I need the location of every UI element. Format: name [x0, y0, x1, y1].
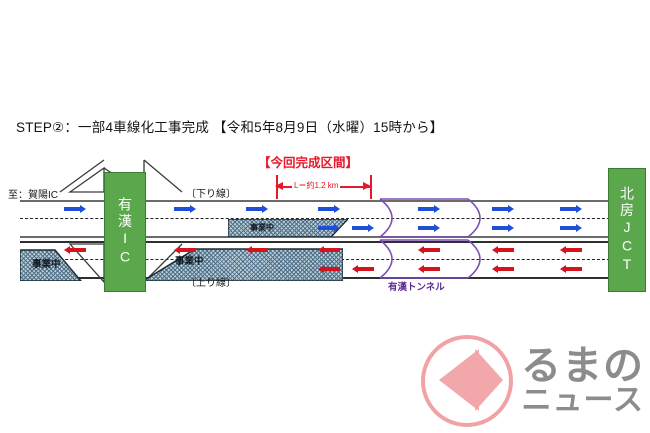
completed-section-label: 【今回完成区間】	[258, 152, 358, 171]
arrow-inbound-red-lane2	[352, 265, 374, 273]
diagram-canvas: STEP②：一部4車線化工事完成 【令和5年8月9日（水曜）15時から】 【今回…	[0, 0, 650, 433]
arrow-outbound-blue	[246, 205, 268, 213]
arrow-inbound-red-lane2	[418, 265, 440, 273]
arrow-inbound-red	[246, 246, 268, 254]
watermark-line2: ニュース	[521, 386, 644, 416]
arrow-inbound-red-lane2	[492, 265, 514, 273]
arrow-outbound-blue	[318, 205, 340, 213]
arrow-inbound-red	[174, 246, 196, 254]
dimension-length-text: L＝約1.2 km	[292, 180, 340, 191]
arrow-inbound-red	[492, 246, 514, 254]
arrow-outbound-blue-lane2	[560, 224, 582, 232]
arrow-outbound-blue-lane2	[418, 224, 440, 232]
dimension-arrow-right	[363, 182, 371, 190]
arrow-outbound-blue	[174, 205, 196, 213]
facility-ukan-ic[interactable]: 有漢IC	[104, 172, 146, 292]
arrow-outbound-blue-lane2	[492, 224, 514, 232]
arrow-outbound-blue	[64, 205, 86, 213]
arrow-outbound-blue	[418, 205, 440, 213]
arrow-outbound-blue	[492, 205, 514, 213]
tunnel-label: 有漢トンネル	[388, 279, 445, 293]
construction-zone-center-lower	[143, 241, 343, 281]
label-to-kayo-ic: 至：賀陽IC	[8, 186, 58, 201]
kurumano-news-mark-icon	[421, 335, 513, 427]
arrow-inbound-red	[418, 246, 440, 254]
page-title: STEP②：一部4車線化工事完成 【令和5年8月9日（水曜）15時から】	[16, 116, 443, 136]
label-outbound-line: 〔下り線〕	[186, 185, 236, 200]
watermark-line1: るまの	[521, 346, 644, 386]
dimension-arrow-left	[275, 182, 283, 190]
arrow-inbound-red	[64, 246, 86, 254]
watermark-logo: るまの ニュース	[421, 335, 644, 427]
arrow-inbound-red	[318, 246, 340, 254]
watermark-text: るまの ニュース	[521, 346, 644, 416]
arrow-outbound-blue-lane2	[318, 224, 340, 232]
arrow-outbound-blue-lane2	[352, 224, 374, 232]
arrow-inbound-red	[560, 246, 582, 254]
arrow-inbound-red-lane2	[318, 265, 340, 273]
construction-label-left: 事業中	[32, 256, 61, 270]
facility-ukan-ic-label: 有漢IC	[117, 197, 133, 267]
label-inbound-line: 〔上り線〕	[186, 274, 236, 289]
facility-hokubo-jct-label: 北房JCT	[619, 186, 635, 275]
construction-label-center-upper: 事業中	[250, 222, 274, 233]
arrow-inbound-red-lane2	[560, 265, 582, 273]
facility-hokubo-jct[interactable]: 北房JCT	[608, 168, 646, 292]
arrow-outbound-blue	[560, 205, 582, 213]
construction-label-center-lower: 事業中	[175, 253, 204, 267]
